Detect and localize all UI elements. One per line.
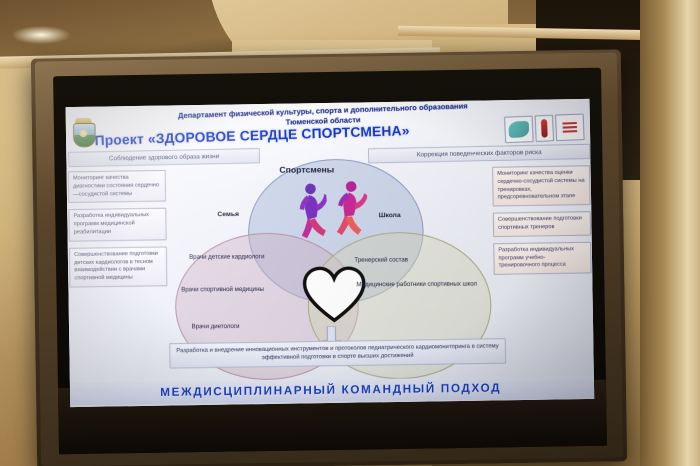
right-box-3: Разработка индивидуальных программ учебн… — [493, 242, 591, 275]
venn-item-coaching-staff: Тренерский состав — [354, 256, 474, 265]
venn-item-school-medical-staff: Медицинские работники спортивных школ — [355, 281, 479, 290]
figure-logo-icon — [535, 115, 554, 142]
wall-right-edge — [640, 0, 700, 466]
right-boxes-column: Мониторинг качества оценки сердечно-сосу… — [492, 165, 592, 275]
runner-figure-purple-icon — [295, 181, 330, 246]
partner-logos — [504, 111, 591, 145]
venn-label-family: Семья — [217, 211, 239, 218]
presentation-slide: Департамент физической культуры, спорта … — [66, 99, 595, 407]
venn-item-pediatric-cardiologists: Врачи детские кардиологи — [189, 253, 291, 262]
tv-screen[interactable]: Департамент физической культуры, спорта … — [66, 99, 595, 407]
runner-figure-pink-icon — [334, 179, 367, 244]
venn-item-sports-medicine-doctors: Врачи спортивной медицины — [181, 286, 289, 295]
ceiling-downlight — [12, 26, 70, 44]
tyumen-coat-of-arms-icon — [70, 118, 97, 149]
venn-label-school: Школа — [379, 212, 401, 219]
venn-label-athletes: Спортсмены — [279, 164, 334, 175]
right-box-2: Совершенствование подготовки спортивных … — [493, 211, 591, 237]
swirl-logo-icon — [504, 116, 534, 144]
slide-description: Разработка и внедрение инновационных инс… — [169, 338, 506, 368]
television: SAMSUNG Департамент физической культуры,… — [31, 49, 627, 466]
right-box-1: Мониторинг качества оценки сердечно-сосу… — [492, 165, 591, 206]
screenshot-root: SAMSUNG Департамент физической культуры,… — [0, 0, 700, 466]
left-box-1: Мониторинг качества диагностики состояни… — [68, 170, 166, 203]
left-box-3: Совершенствование подготовки детских кар… — [69, 246, 168, 287]
heart-outline-icon — [301, 265, 367, 325]
left-boxes-column: Мониторинг качества диагностики состояни… — [68, 170, 168, 288]
left-box-2: Разработка индивидуальных программ медиц… — [68, 208, 166, 241]
venn-item-dietitians: Врачи диетологи — [192, 323, 294, 332]
bars-logo-icon — [555, 113, 585, 141]
footer-text: МЕЖДИСЦИПЛИНАРНЫЙ КОМАНДНЫЙ ПОДХОД — [160, 382, 501, 399]
